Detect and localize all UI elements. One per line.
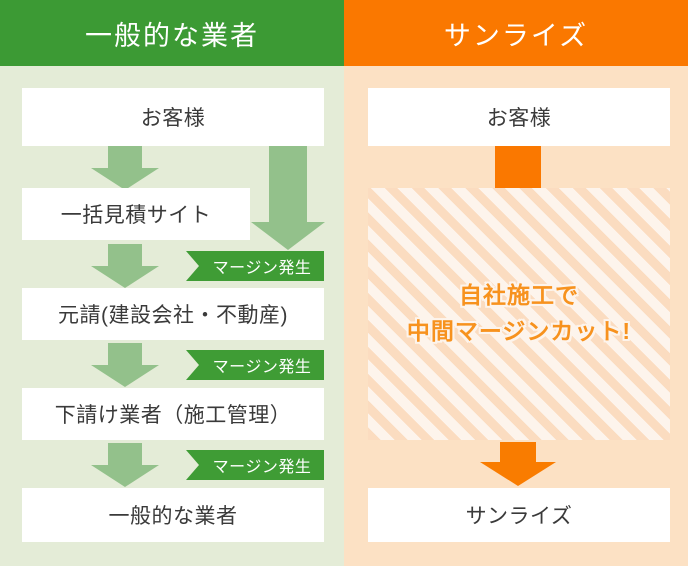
- right-box-customer: お客様: [368, 88, 670, 146]
- margin-badge-2: マージン発生: [186, 350, 324, 380]
- arrow-down-icon-4: [91, 443, 159, 485]
- comparison-diagram: 一般的な業者 お客様 一括見積サイト マージン発生 元請(建設会社・不動産): [0, 0, 688, 566]
- left-box-subcontractor: 下請け業者（施工管理）: [22, 388, 324, 440]
- arrow-head: [91, 168, 159, 190]
- right-column-header: サンライズ: [344, 0, 688, 66]
- arrow-head: [91, 365, 159, 387]
- arrow-shaft: [108, 343, 142, 367]
- margin-badge-3: マージン発生: [186, 450, 324, 480]
- arrow-down-icon-1: [91, 146, 159, 188]
- column-general-contractor: 一般的な業者 お客様 一括見積サイト マージン発生 元請(建設会社・不動産): [0, 0, 344, 566]
- arrow-head: [91, 266, 159, 288]
- arrow-head: [251, 222, 325, 250]
- arrow-shaft: [108, 443, 142, 467]
- arrow-down-icon-orange: [480, 442, 556, 486]
- bypass-arrow-down-icon: [251, 146, 325, 250]
- arrow-shaft: [108, 244, 142, 268]
- left-box-customer: お客様: [22, 88, 324, 146]
- arrow-head: [91, 465, 159, 487]
- highlight-panel: 自社施工で 中間マージンカット!: [368, 188, 670, 440]
- highlight-line-1: 自社施工で: [459, 278, 579, 314]
- arrow-down-icon-2: [91, 244, 159, 286]
- arrow-head: [480, 462, 556, 486]
- left-box-prime-contractor: 元請(建設会社・不動産): [22, 288, 324, 340]
- arrow-shaft: [500, 442, 536, 464]
- left-box-estimate-site: 一括見積サイト: [22, 188, 250, 240]
- arrow-down-icon-3: [91, 343, 159, 385]
- left-column-header: 一般的な業者: [0, 0, 344, 66]
- margin-badge-1: マージン発生: [186, 251, 324, 281]
- arrow-shaft: [108, 146, 142, 170]
- right-box-sunrise: サンライズ: [368, 488, 670, 542]
- highlight-line-2: 中間マージンカット!: [407, 314, 631, 350]
- left-box-general-contractor: 一般的な業者: [22, 488, 324, 542]
- connector-bar: [495, 146, 541, 188]
- arrow-shaft: [269, 146, 307, 224]
- column-sunrise: サンライズ お客様 自社施工で 中間マージンカット! サンライズ: [344, 0, 688, 566]
